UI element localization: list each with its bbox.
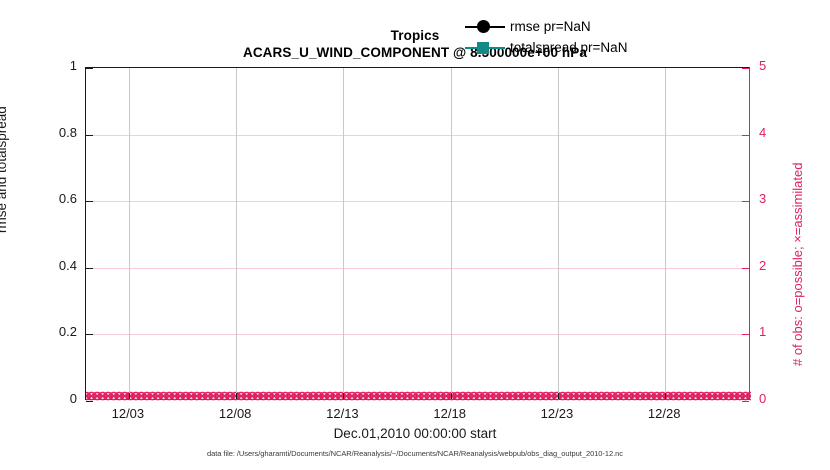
y-axis-right-tick-label: 4 (759, 125, 766, 140)
x-axis-tick (343, 393, 344, 399)
y-axis-right-tick-label: 2 (759, 258, 766, 273)
x-axis-tick (451, 393, 452, 399)
data-file-note: data file: /Users/gharamti/Documents/NCA… (0, 449, 830, 458)
chart-title-block: Tropics ACARS_U_WIND_COMPONENT @ 8.50000… (0, 27, 830, 62)
x-axis-tick (558, 393, 559, 399)
vertical-gridline (129, 68, 130, 399)
x-axis-title: Dec.01,2010 00:00:00 start (0, 426, 830, 441)
legend[interactable]: rmse pr=NaN totalspread pr=NaN (463, 16, 627, 58)
legend-label-totalspread: totalspread pr=NaN (510, 40, 627, 55)
x-axis-tick (236, 393, 237, 399)
x-axis-tick-label: 12/28 (624, 406, 704, 421)
y-axis-right-tick-label: 0 (759, 391, 766, 406)
y-axis-left-tick-label: 0.6 (23, 191, 77, 206)
y-axis-left-tick (86, 268, 93, 269)
x-axis-tick (665, 393, 666, 399)
vertical-gridline (343, 68, 344, 399)
observation-marker-band (86, 391, 749, 405)
y-axis-left-tick-label: 0.8 (23, 125, 77, 140)
y-axis-left-title: rmse and totalspread (0, 106, 9, 233)
circle-marker-icon (477, 20, 490, 33)
y-axis-left-tick-label: 0.4 (23, 258, 77, 273)
x-axis-tick (129, 393, 130, 399)
horizontal-gridline (86, 268, 749, 269)
legend-label-rmse: rmse pr=NaN (510, 19, 591, 34)
figure-canvas: Tropics ACARS_U_WIND_COMPONENT @ 8.50000… (0, 0, 830, 470)
plot-area[interactable] (85, 67, 750, 400)
y-axis-left-tick-label: 1 (23, 58, 77, 73)
chart-subtitle: ACARS_U_WIND_COMPONENT @ 8.500000e+00 hP… (0, 44, 830, 62)
y-axis-right-tick-label: 5 (759, 58, 766, 73)
x-axis-tick-label: 12/08 (195, 406, 275, 421)
horizontal-gridline (86, 135, 749, 136)
horizontal-gridline (86, 334, 749, 335)
x-axis-tick-label: 12/23 (517, 406, 597, 421)
y-axis-right-tick (742, 135, 749, 136)
y-axis-left-tick (86, 135, 93, 136)
legend-swatch-rmse (463, 18, 507, 36)
observation-markers-svg (86, 387, 751, 405)
vertical-gridline (558, 68, 559, 399)
y-axis-left-tick-label: 0.2 (23, 324, 77, 339)
y-axis-right-tick (742, 334, 749, 335)
vertical-gridline (665, 68, 666, 399)
y-axis-left-tick (86, 401, 93, 402)
y-axis-right-tick-label: 3 (759, 191, 766, 206)
x-axis-tick-label: 12/18 (410, 406, 490, 421)
y-axis-right-tick-label: 1 (759, 324, 766, 339)
legend-item-rmse[interactable]: rmse pr=NaN (463, 16, 627, 37)
y-axis-right-tick (742, 201, 749, 202)
y-axis-left-tick (86, 201, 93, 202)
vertical-gridline (236, 68, 237, 399)
y-axis-left-tick (86, 68, 93, 69)
x-axis-tick-label: 12/13 (302, 406, 382, 421)
horizontal-gridline (86, 201, 749, 202)
legend-item-totalspread[interactable]: totalspread pr=NaN (463, 37, 627, 58)
y-axis-right-tick (742, 401, 749, 402)
y-axis-right-tick (742, 268, 749, 269)
vertical-gridline (451, 68, 452, 399)
chart-title: Tropics (0, 27, 830, 44)
y-axis-left-tick-label: 0 (23, 391, 77, 406)
square-marker-icon (477, 42, 489, 54)
legend-swatch-totalspread (463, 39, 507, 57)
x-axis-tick-label: 12/03 (88, 406, 168, 421)
y-axis-left-tick (86, 334, 93, 335)
y-axis-right-title: # of obs: o=possible; ×=assimilated (790, 163, 805, 366)
y-axis-right-tick (742, 68, 749, 69)
